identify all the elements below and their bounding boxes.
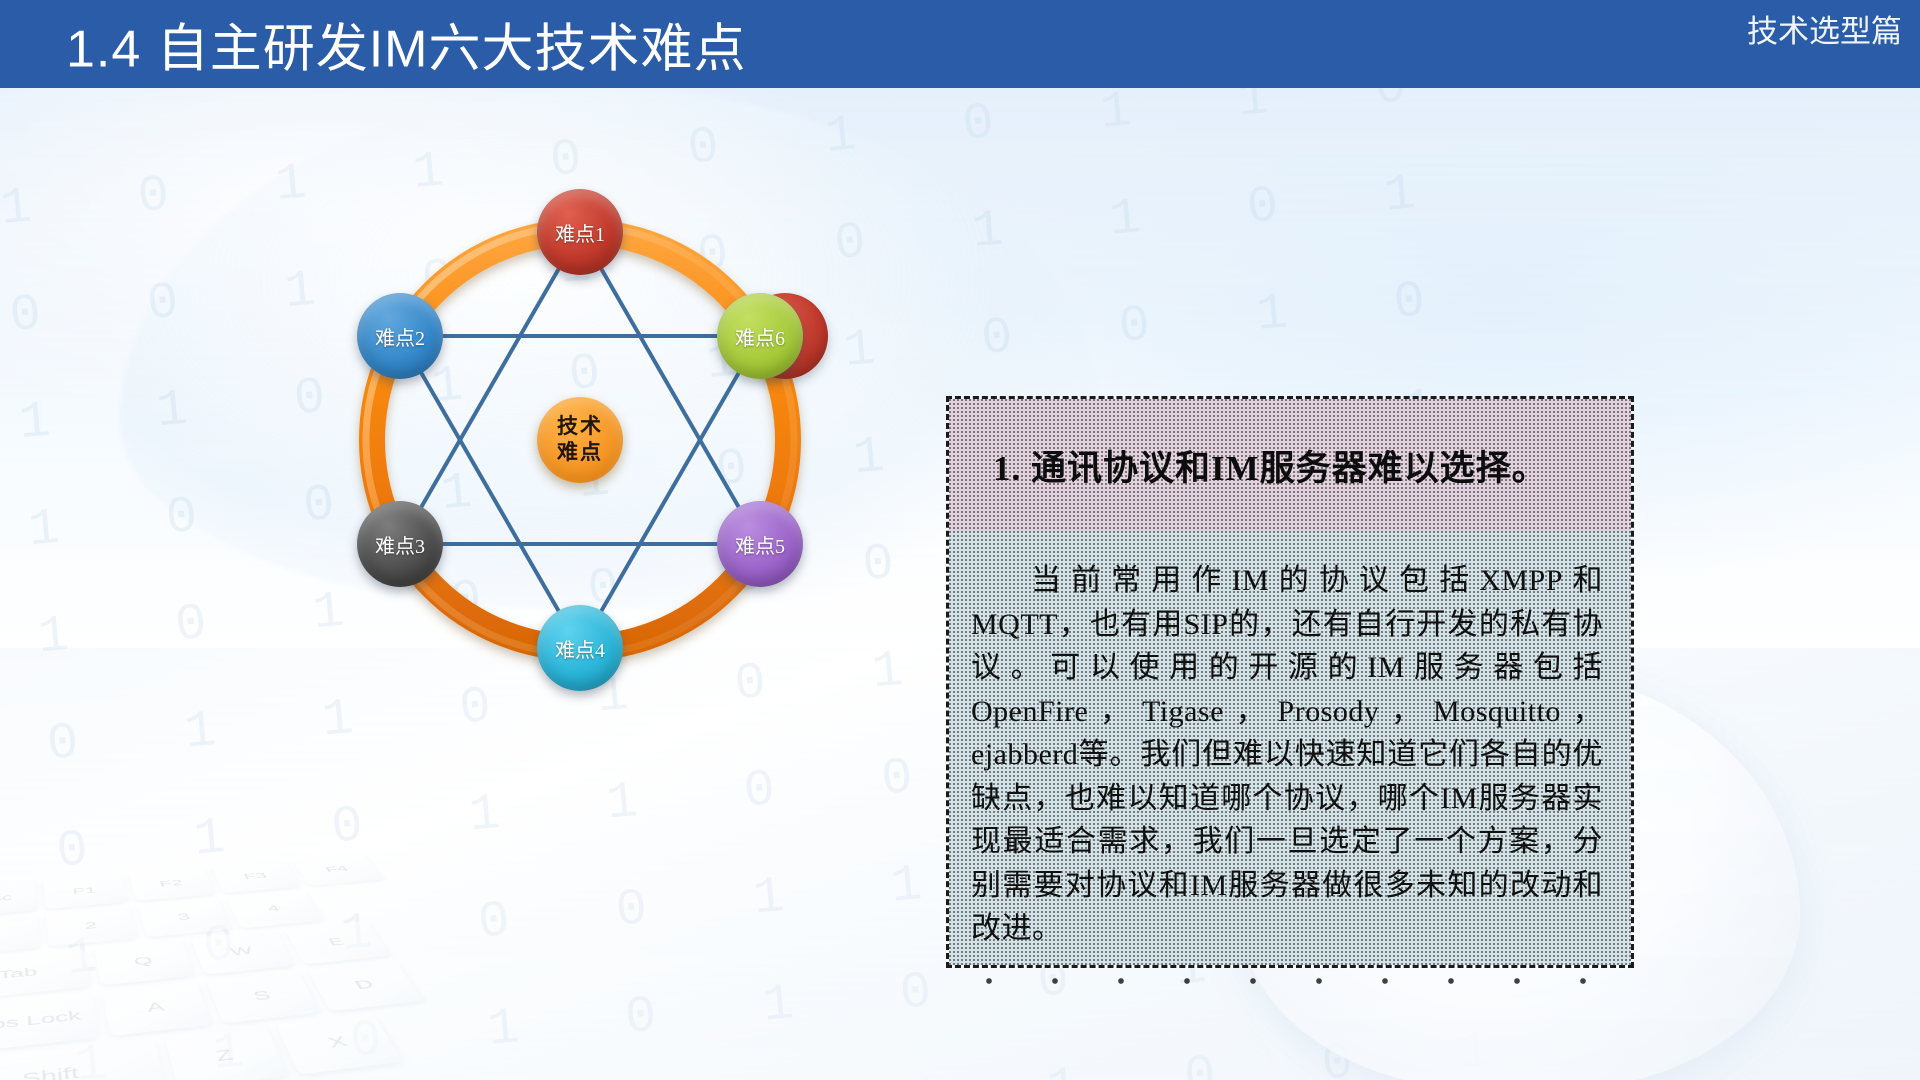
keyboard-key: A xyxy=(102,981,212,1036)
node-difficulty-2[interactable]: 难点2 xyxy=(357,293,443,379)
description-panel: 1. 通讯协议和IM服务器难以选择。 当前常用作IM的协议包括XMPP和MQTT… xyxy=(946,396,1634,968)
keyboard-key: 3 xyxy=(137,898,232,937)
node-difficulty-4[interactable]: 难点4 xyxy=(537,605,623,691)
section-label: 技术选型篇 xyxy=(1747,6,1902,51)
slide-canvas: 0 1 0 1 1 0 0 1 0 1 1 0 1 0 0 1 0 1 0 0 … xyxy=(0,0,1920,1080)
keyboard-key: Esc xyxy=(0,881,37,918)
keyboard-key: F2 xyxy=(128,867,216,901)
center-label-line1: 技术 xyxy=(557,414,603,440)
keyboard-key: Q xyxy=(94,939,195,986)
panel-body-band: 当前常用作IM的协议包括XMPP和MQTT，也有用SIP的，还有自行开发的私有协… xyxy=(949,531,1631,968)
page-title: 1.4 自主研发IM六大技术难点 xyxy=(66,7,747,82)
keyboard-key: E xyxy=(284,921,391,964)
diagram-center-hub[interactable]: 技术 难点 xyxy=(537,397,623,483)
node-label: 难点3 xyxy=(375,530,425,559)
keyboard-key: 1 xyxy=(0,914,40,956)
keyboard-key: F3 xyxy=(211,860,301,893)
keyboard-key: W xyxy=(191,930,295,975)
keyboard-key: F4 xyxy=(292,854,384,886)
panel-title-band: 1. 通讯协议和IM服务器难以选择。 xyxy=(949,399,1631,531)
keyboard-key: D xyxy=(307,961,425,1012)
keyboard-key: 2 xyxy=(46,906,138,947)
node-label: 难点2 xyxy=(375,322,425,351)
node-label: 难点1 xyxy=(555,218,605,247)
hexagram-diagram: 难点1 难点2 难点3 难点4 难点5 难点6 技术 难点 xyxy=(330,190,830,690)
keyboard-key: F1 xyxy=(43,874,128,909)
keyboard-key: Z xyxy=(164,1025,288,1080)
keyboard-key: 4 xyxy=(226,890,324,928)
keyboard-key: S xyxy=(206,971,320,1024)
node-label: 难点5 xyxy=(735,530,785,559)
panel-body-text: 当前常用作IM的协议包括XMPP和MQTT，也有用SIP的，还有自行开发的私有协… xyxy=(971,559,1603,951)
keyboard-key: X xyxy=(276,1013,404,1075)
node-difficulty-6[interactable]: 难点6 xyxy=(717,293,803,379)
panel-title: 1. 通讯协议和IM服务器难以选择。 xyxy=(993,440,1548,491)
node-difficulty-3[interactable]: 难点3 xyxy=(357,501,443,587)
node-label: 难点4 xyxy=(555,634,605,663)
slide-header-bar: 1.4 自主研发IM六大技术难点 技术选型篇 xyxy=(0,0,1920,88)
node-label: 难点6 xyxy=(735,322,785,351)
panel-shadow-dots xyxy=(986,978,1646,988)
center-label-line2: 难点 xyxy=(557,440,603,466)
node-difficulty-5[interactable]: 难点5 xyxy=(717,501,803,587)
node-difficulty-1[interactable]: 难点1 xyxy=(537,189,623,275)
